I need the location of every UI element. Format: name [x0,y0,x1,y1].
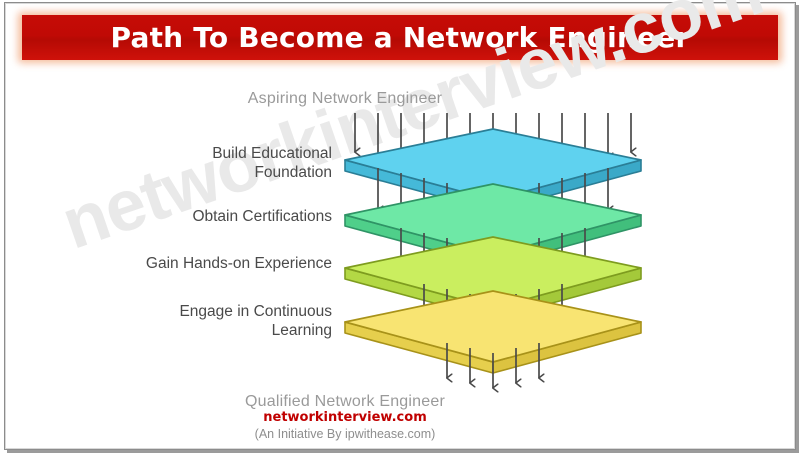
stage-label-3: Gain Hands-on Experience [146,254,332,273]
stage-label-2: Obtain Certifications [192,207,332,226]
stage-label-1: Build Educational Foundation [212,144,332,182]
footer-brand: networkinterview.com [95,410,595,425]
input-caption: Aspiring Network Engineer [95,90,595,108]
layer-stack-diagram [0,0,800,454]
infographic-canvas: Path To Become a Network Engineer networ… [0,0,800,454]
stage-label-4: Engage in Continuous Learning [179,302,332,340]
output-caption: Qualified Network Engineer [95,393,595,411]
footer-tagline: (An Initiative By ipwithease.com) [95,427,595,441]
